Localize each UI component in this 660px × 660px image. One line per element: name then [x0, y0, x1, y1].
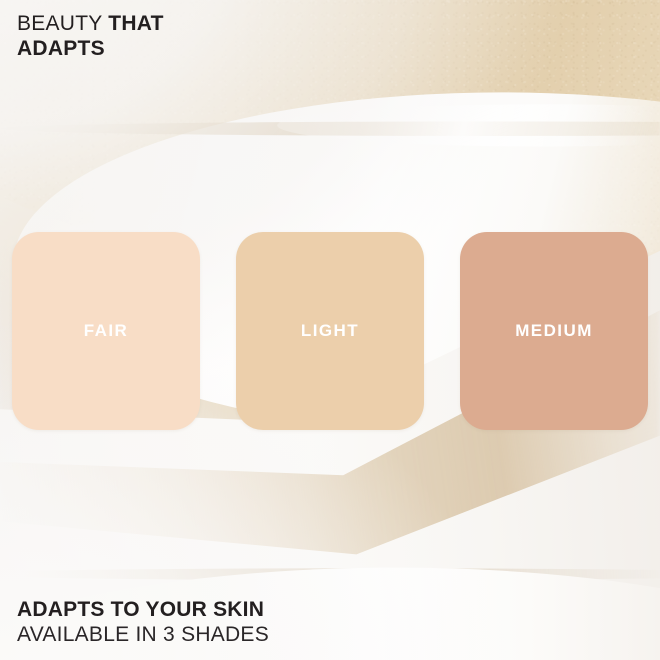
footer-secondary-text: AVAILABLE IN 3 SHADES: [17, 623, 269, 647]
headline-line-1: BEAUTY THAT: [17, 11, 164, 36]
footer: ADAPTS TO YOUR SKIN AVAILABLE IN 3 SHADE…: [17, 598, 269, 647]
headline-word-that: THAT: [108, 12, 163, 35]
shade-swatch-medium[interactable]: MEDIUM: [460, 232, 648, 430]
shade-swatch-fair[interactable]: FAIR: [12, 232, 200, 430]
shade-swatch-label-fair: FAIR: [84, 321, 129, 341]
shade-swatch-row: FAIR LIGHT MEDIUM: [12, 232, 648, 430]
headline-word-beauty: BEAUTY: [17, 12, 108, 35]
shade-range-promo-card: BEAUTY THAT ADAPTS FAIR LIGHT MEDIUM ADA…: [0, 0, 660, 660]
headline: BEAUTY THAT ADAPTS: [17, 11, 164, 61]
headline-line-2: ADAPTS: [17, 36, 164, 61]
shade-swatch-label-light: LIGHT: [301, 321, 359, 341]
footer-primary-text: ADAPTS TO YOUR SKIN: [17, 598, 269, 622]
shade-swatch-label-medium: MEDIUM: [515, 321, 593, 341]
shade-swatch-light[interactable]: LIGHT: [236, 232, 424, 430]
